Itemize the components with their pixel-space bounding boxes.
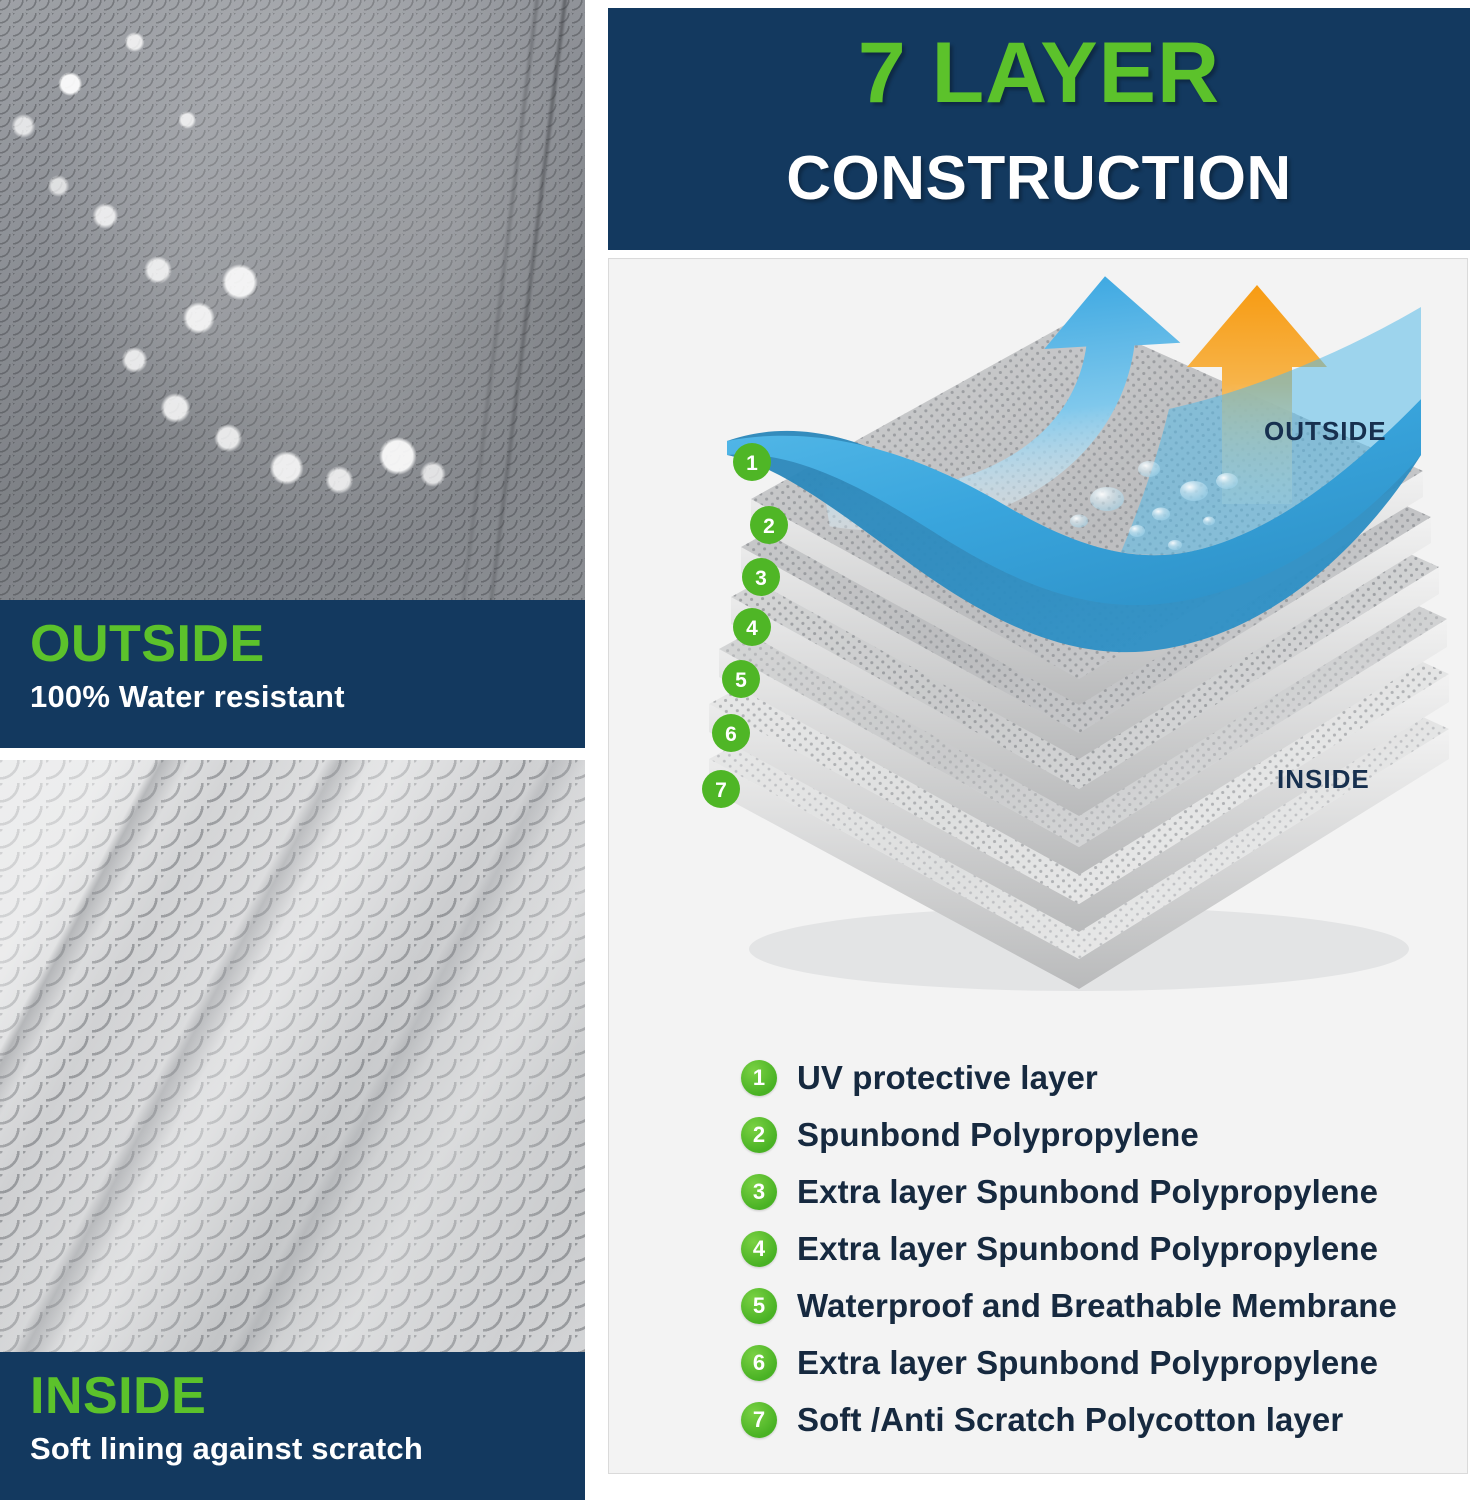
legend-badge-6: 6 — [741, 1345, 777, 1381]
legend-label-6: Extra layer Spunbond Polypropylene — [797, 1344, 1378, 1382]
legend-item: 6 Extra layer Spunbond Polypropylene — [741, 1334, 1441, 1391]
legend-badge-2: 2 — [741, 1117, 777, 1153]
svg-text:2: 2 — [763, 515, 775, 538]
diagram-and-legend-panel: 1 2 3 4 — [608, 258, 1468, 1474]
diagram-badge-5: 5 — [722, 660, 760, 698]
legend-label-4: Extra layer Spunbond Polypropylene — [797, 1230, 1378, 1268]
legend-item: 5 Waterproof and Breathable Membrane — [741, 1277, 1441, 1334]
svg-text:3: 3 — [755, 567, 767, 590]
svg-text:5: 5 — [735, 669, 747, 692]
diagram-badge-4: 4 — [733, 608, 771, 646]
diagram-badge-1: 1 — [733, 443, 771, 481]
legend-badge-1: 1 — [741, 1060, 777, 1096]
water-beading-fabric-photo — [0, 0, 585, 600]
left-photo-column: OUTSIDE 100% Water resistant INSIDE Soft… — [0, 0, 585, 1500]
inside-caption-bar: INSIDE Soft lining against scratch — [0, 1352, 585, 1500]
infographic-page: OUTSIDE 100% Water resistant INSIDE Soft… — [0, 0, 1477, 1500]
inside-caption-title: INSIDE — [30, 1370, 206, 1422]
legend-item: 7 Soft /Anti Scratch Polycotton layer — [741, 1391, 1441, 1448]
legend-item: 2 Spunbond Polypropylene — [741, 1106, 1441, 1163]
legend-label-5: Waterproof and Breathable Membrane — [797, 1287, 1397, 1325]
right-info-panel: 7 LAYER CONSTRUCTION — [608, 8, 1470, 1476]
header-banner: 7 LAYER CONSTRUCTION — [608, 8, 1470, 250]
diagram-outside-label: OUTSIDE — [1264, 416, 1387, 447]
legend-badge-5: 5 — [741, 1288, 777, 1324]
legend-label-2: Spunbond Polypropylene — [797, 1116, 1199, 1154]
outside-caption-title: OUTSIDE — [30, 618, 265, 670]
layer-legend-list: 1 UV protective layer 2 Spunbond Polypro… — [741, 1049, 1441, 1448]
svg-text:4: 4 — [746, 617, 758, 640]
outside-caption-bar: OUTSIDE 100% Water resistant — [0, 600, 585, 748]
legend-item: 4 Extra layer Spunbond Polypropylene — [741, 1220, 1441, 1277]
legend-badge-7: 7 — [741, 1402, 777, 1438]
legend-item: 1 UV protective layer — [741, 1049, 1441, 1106]
legend-item: 3 Extra layer Spunbond Polypropylene — [741, 1163, 1441, 1220]
header-title-primary: 7 LAYER — [608, 30, 1470, 116]
svg-text:7: 7 — [715, 779, 727, 802]
diagram-badge-7: 7 — [702, 770, 740, 808]
inside-photo-card: INSIDE Soft lining against scratch — [0, 760, 585, 1500]
legend-label-3: Extra layer Spunbond Polypropylene — [797, 1173, 1378, 1211]
diagram-inside-label: INSIDE — [1277, 764, 1370, 795]
legend-label-7: Soft /Anti Scratch Polycotton layer — [797, 1401, 1343, 1439]
inside-caption-subtitle: Soft lining against scratch — [30, 1432, 423, 1466]
soft-lining-fabric-photo — [0, 760, 585, 1360]
diagram-badge-2: 2 — [750, 506, 788, 544]
legend-badge-3: 3 — [741, 1174, 777, 1210]
legend-label-1: UV protective layer — [797, 1059, 1098, 1097]
layer-stack-diagram: 1 2 3 4 — [609, 259, 1469, 1019]
diagram-badge-6: 6 — [712, 714, 750, 752]
header-title-secondary: CONSTRUCTION — [608, 148, 1470, 210]
svg-text:6: 6 — [725, 723, 737, 746]
outside-caption-subtitle: 100% Water resistant — [30, 680, 345, 714]
svg-text:1: 1 — [746, 452, 758, 475]
diagram-badge-3: 3 — [742, 558, 780, 596]
outside-photo-card: OUTSIDE 100% Water resistant — [0, 0, 585, 748]
legend-badge-4: 4 — [741, 1231, 777, 1267]
